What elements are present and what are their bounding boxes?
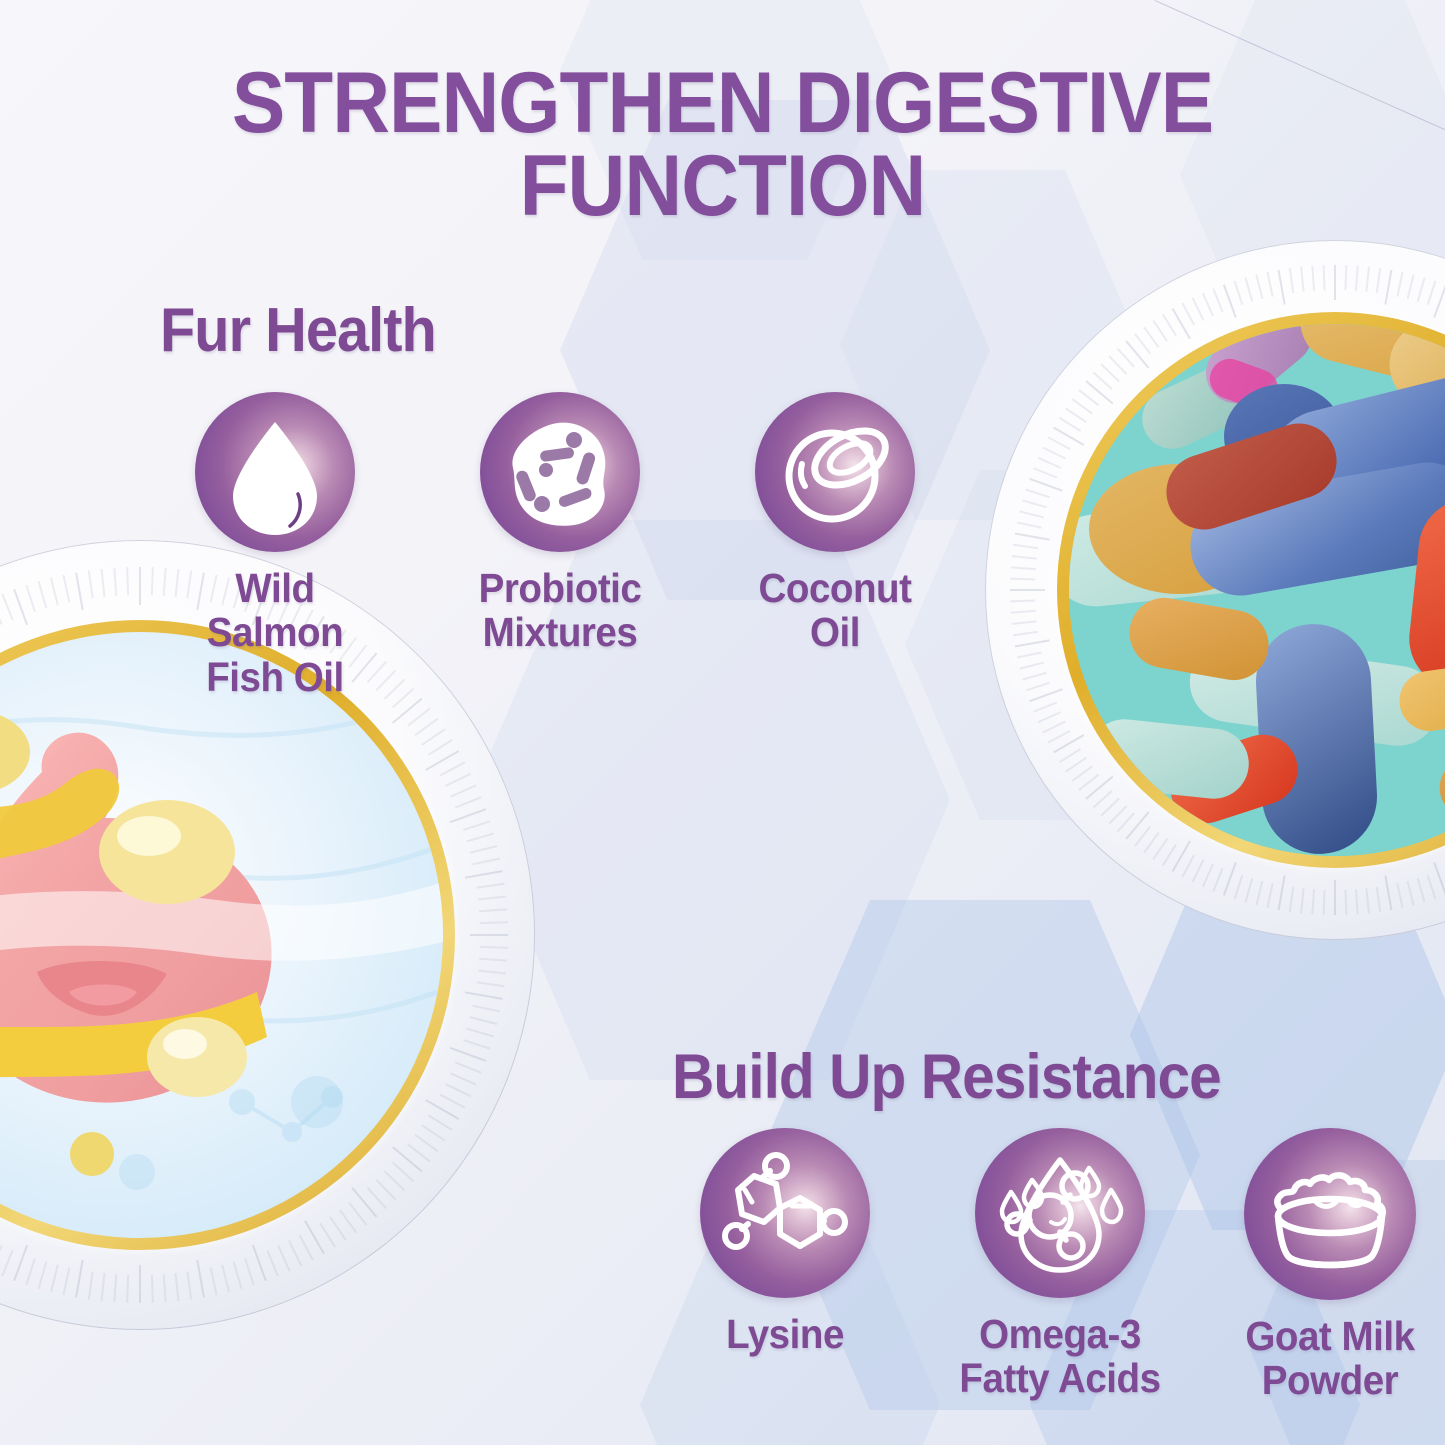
feature-lysine[interactable]: Lysine [665, 1128, 905, 1356]
probiotic-blob-icon [480, 392, 640, 552]
feature-omega-3-fatty-acids[interactable]: Omega-3 Fatty Acids [940, 1128, 1180, 1401]
molecule-icon [700, 1128, 870, 1298]
feature-coconut-oil[interactable]: Coconut Oil [715, 392, 955, 655]
section-heading-build-up-resistance: Build Up Resistance [672, 1046, 1221, 1109]
feature-goat-milk-powder[interactable]: Goat Milk Powder [1210, 1128, 1445, 1403]
stomach-illustration [0, 632, 443, 1238]
feature-label: Lysine [672, 1312, 898, 1356]
probiotic-bacteria-badge [985, 240, 1445, 940]
feature-label: Coconut Oil [722, 566, 948, 655]
section-heading-fur-health: Fur Health [160, 300, 436, 362]
feature-label: Omega-3 Fatty Acids [947, 1312, 1173, 1401]
omega-droplet-icon [975, 1128, 1145, 1298]
feature-probiotic-mixtures[interactable]: Probiotic Mixtures [440, 392, 680, 655]
promo-banner: STRENGTHEN DIGESTIVE FUNCTION Fur Health… [0, 0, 1445, 1445]
coconut-icon [755, 392, 915, 552]
page-title: STRENGTHEN DIGESTIVE FUNCTION [51, 62, 1395, 229]
pet-bowl-icon [1244, 1128, 1416, 1300]
water-drop-icon [195, 392, 355, 552]
feature-label: Probiotic Mixtures [447, 566, 673, 655]
feature-label: Wild Salmon Fish Oil [162, 566, 388, 699]
feature-wild-salmon-fish-oil[interactable]: Wild Salmon Fish Oil [155, 392, 395, 699]
feature-label: Goat Milk Powder [1217, 1314, 1443, 1403]
bacteria-photo [1069, 324, 1445, 856]
